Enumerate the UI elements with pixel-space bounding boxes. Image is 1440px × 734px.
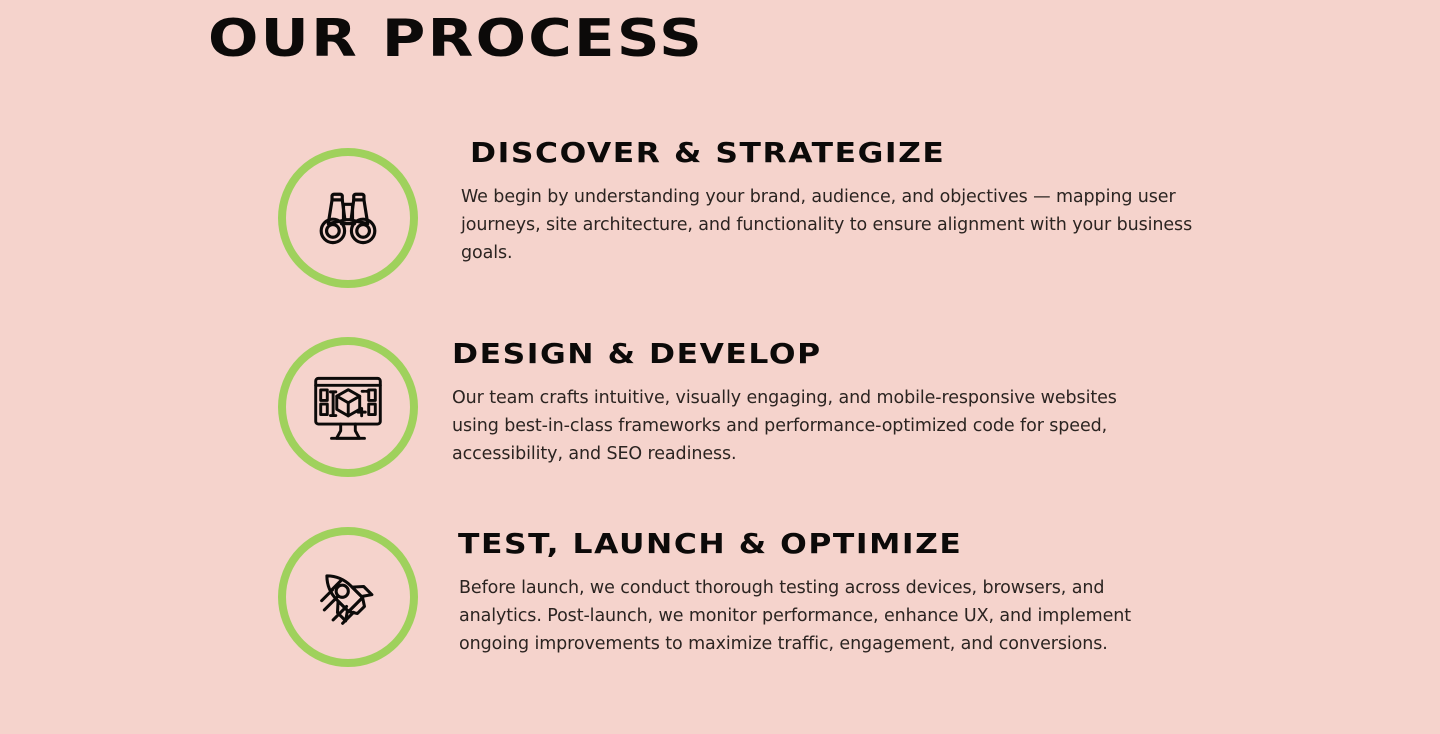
rocket-launch-icon: [309, 558, 387, 636]
step-description: We begin by understanding your brand, au…: [461, 183, 1201, 267]
list-item: DESIGN & DEVELOP Our team crafts intuiti…: [0, 337, 1440, 527]
step-icon-badge-discover: [278, 148, 418, 288]
step-text-block-discover: DISCOVER & STRATEGIZE We begin by unders…: [452, 136, 1222, 267]
step-heading: DISCOVER & STRATEGIZE: [470, 136, 1312, 170]
list-item: TEST, LAUNCH & OPTIMIZE Before launch, w…: [0, 527, 1440, 717]
monitor-3d-design-icon: [309, 368, 387, 446]
step-text-block-launch: TEST, LAUNCH & OPTIMIZE Before launch, w…: [452, 527, 1222, 658]
process-steps-list: DISCOVER & STRATEGIZE We begin by unders…: [0, 0, 1440, 734]
list-item: DISCOVER & STRATEGIZE We begin by unders…: [0, 130, 1440, 320]
step-icon-badge-design: [278, 337, 418, 477]
step-icon-badge-launch: [278, 527, 418, 667]
our-process-section: OUR PROCESS: [0, 0, 1440, 734]
step-heading: DESIGN & DEVELOP: [452, 337, 1314, 371]
binoculars-icon: [309, 179, 387, 257]
step-text-block-design: DESIGN & DEVELOP Our team crafts intuiti…: [452, 337, 1222, 468]
step-description: Our team crafts intuitive, visually enga…: [452, 384, 1167, 468]
step-description: Before launch, we conduct thorough testi…: [459, 574, 1149, 658]
step-heading: TEST, LAUNCH & OPTIMIZE: [458, 527, 1314, 561]
